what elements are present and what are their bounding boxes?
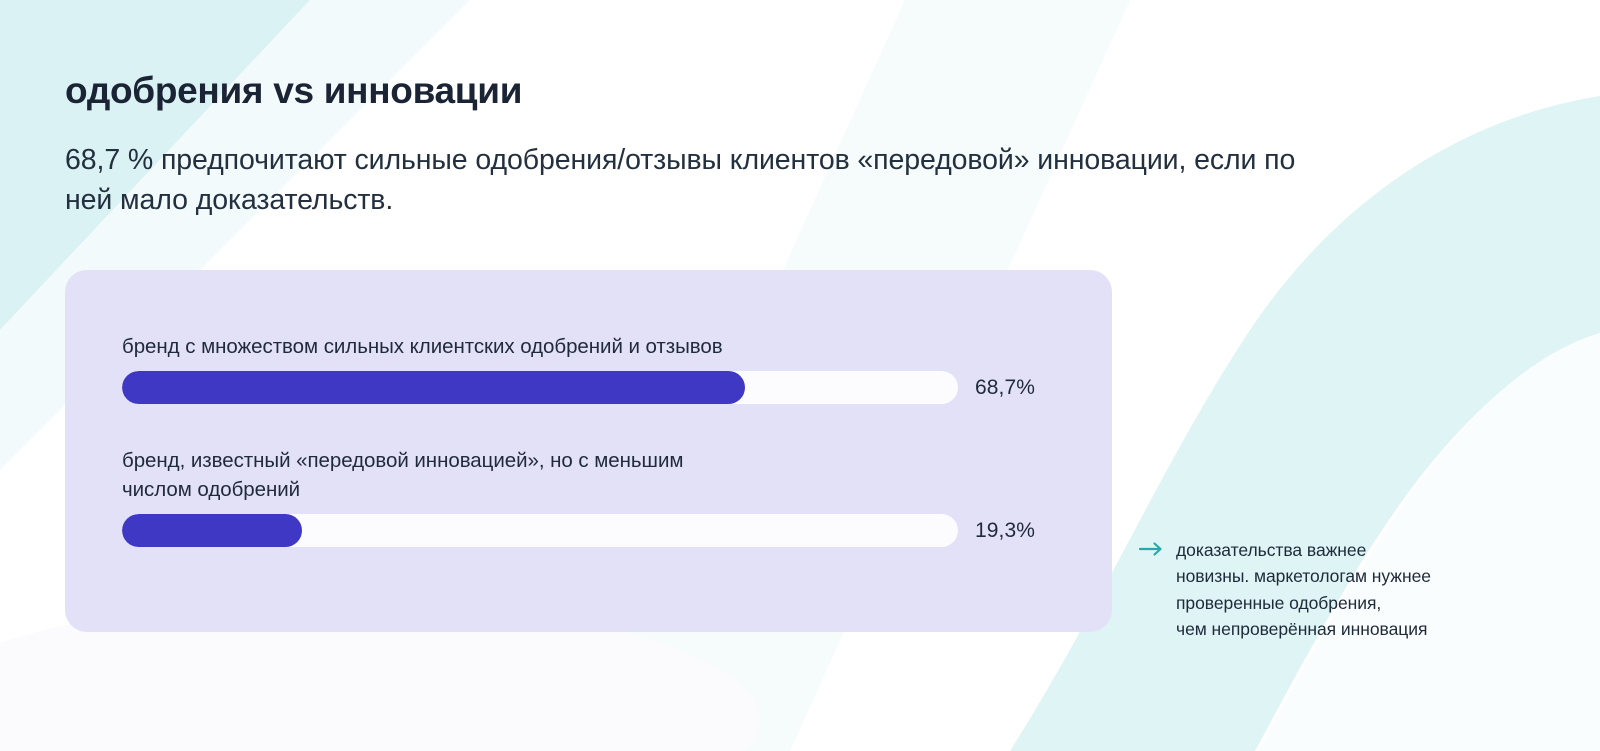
bar-fill (122, 514, 302, 547)
insight-text: доказательства важнее новизны. маркетоло… (1176, 537, 1431, 642)
bar-track (122, 514, 958, 547)
bar-row: 68,7% (122, 371, 1072, 404)
page-title: одобрения vs инновации (65, 70, 522, 113)
page-subtitle: 68,7 % предпочитают сильные одобрения/от… (65, 141, 1325, 221)
insight-callout: доказательства важнее новизны. маркетоло… (1139, 537, 1431, 642)
bar-label: бренд с множеством сильных клиентских од… (122, 332, 1072, 361)
bar-label: бренд, известный «передовой инновацией»,… (122, 446, 1072, 504)
bar-value-label: 19,3% (975, 519, 1035, 543)
infographic-root: одобрения vs инновации 68,7 % предпочита… (0, 0, 1600, 751)
chart-card: бренд с множеством сильных клиентских од… (65, 270, 1112, 632)
bar-value-label: 68,7% (975, 376, 1035, 400)
bar-track (122, 371, 958, 404)
bar-group-innovation: бренд, известный «передовой инновацией»,… (122, 446, 1072, 547)
bar-fill (122, 371, 745, 404)
bar-group-approvals: бренд с множеством сильных клиентских од… (122, 332, 1072, 404)
bar-row: 19,3% (122, 514, 1072, 547)
arrow-right-icon (1139, 541, 1165, 557)
